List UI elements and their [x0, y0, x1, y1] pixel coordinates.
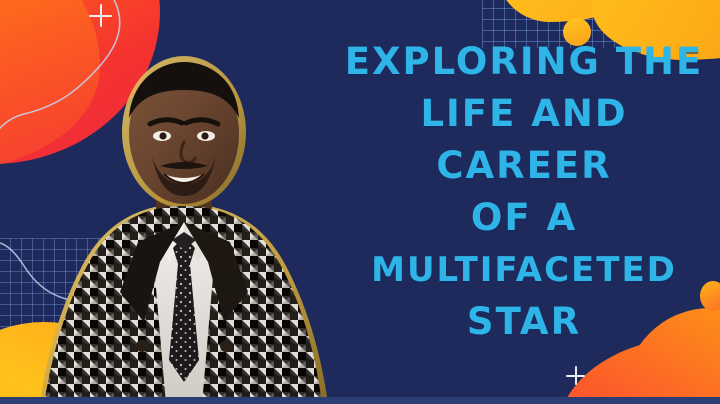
- headline-line-3: Career: [336, 140, 712, 192]
- headline-title: Exploring The Life And Career Of A Multi…: [336, 36, 712, 348]
- headline-line-6: Star: [336, 296, 712, 348]
- portrait-photo: [34, 56, 334, 404]
- headline-line-1: Exploring The: [336, 36, 712, 88]
- headline-line-2: Life And: [336, 88, 712, 140]
- blob-top-right-secondary-shape: [498, 0, 648, 22]
- plus-bottom-right-icon: [566, 366, 585, 385]
- headline-line-4: Of A: [336, 192, 712, 244]
- thumbnail-canvas: Exploring The Life And Career Of A Multi…: [0, 0, 720, 404]
- headline-line-5: Multifaceted: [336, 244, 712, 296]
- plus-top-left-icon: [89, 4, 112, 27]
